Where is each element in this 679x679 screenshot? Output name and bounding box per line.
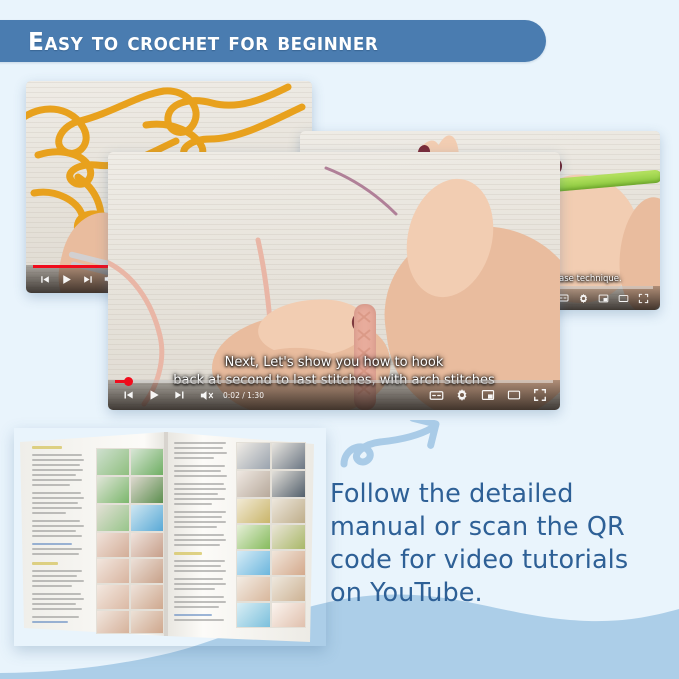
promo-line-3: code for video tutorials — [330, 544, 670, 577]
mute-icon[interactable] — [193, 382, 219, 408]
curly-arrow-up-right-icon — [340, 420, 450, 478]
fullscreen-icon[interactable] — [527, 382, 553, 408]
promo-line-2: manual or scan the QR — [330, 511, 670, 544]
theater-icon[interactable] — [613, 288, 633, 308]
captions-icon[interactable] — [423, 382, 449, 408]
product-infographic: Easy to crochet for beginner — [0, 0, 679, 679]
manual-right-page — [170, 434, 312, 652]
next-icon[interactable] — [77, 268, 99, 290]
play-icon[interactable] — [141, 382, 167, 408]
miniplayer-icon[interactable] — [475, 382, 501, 408]
page-title: Easy to crochet for beginner — [28, 27, 378, 56]
play-icon[interactable] — [55, 268, 77, 290]
settings-gear-icon[interactable] — [573, 288, 593, 308]
video-card-pink[interactable]: Next, Let's show you how to hook back at… — [108, 152, 560, 410]
promo-text-block: Follow the detailed manual or scan the Q… — [330, 478, 670, 611]
previous-icon[interactable] — [115, 382, 141, 408]
promo-line-4: on YouTube. — [330, 577, 670, 610]
time-display-pink: 0:02 / 1:30 — [223, 391, 264, 400]
player-controls-pink[interactable]: 0:02 / 1:30 — [108, 380, 560, 410]
manual-right-text-column — [174, 434, 230, 652]
header-banner: Easy to crochet for beginner — [0, 20, 546, 62]
theater-icon[interactable] — [501, 382, 527, 408]
miniplayer-icon[interactable] — [593, 288, 613, 308]
next-icon[interactable] — [167, 382, 193, 408]
manual-left-page — [22, 434, 166, 652]
settings-gear-icon[interactable] — [449, 382, 475, 408]
fullscreen-icon[interactable] — [633, 288, 653, 308]
instruction-manual — [14, 428, 326, 646]
manual-left-text-column — [32, 434, 86, 652]
promo-line-1: Follow the detailed — [330, 478, 670, 511]
previous-icon[interactable] — [33, 268, 55, 290]
video-thumbnail-pink — [108, 152, 560, 410]
